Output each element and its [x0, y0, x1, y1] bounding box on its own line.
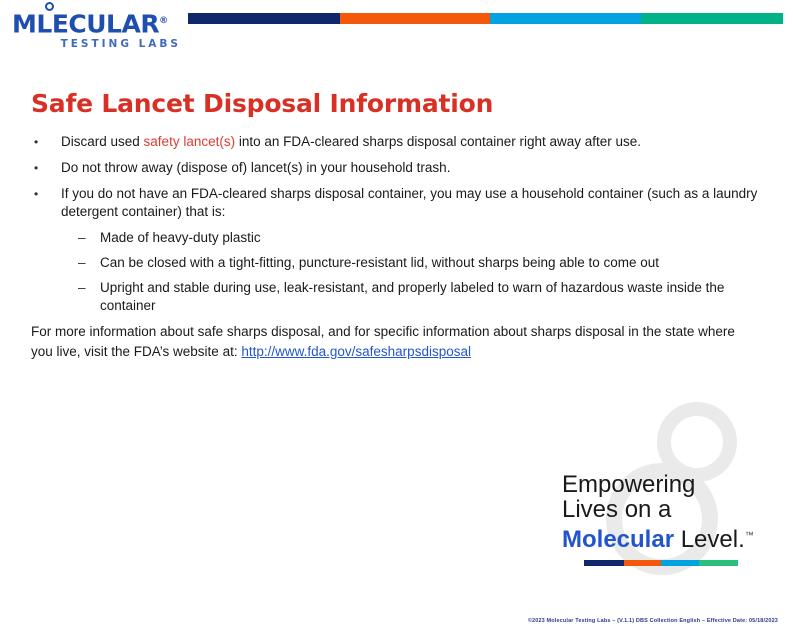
- tagline-line-2: Lives on a: [562, 497, 754, 522]
- tagline-line-3: Molecular Level.™: [562, 523, 754, 552]
- logo-subtitle: TESTING LABS: [12, 38, 184, 50]
- tagline-bar-segment-navy: [584, 560, 624, 566]
- bullet-marker-icon: •: [31, 133, 61, 151]
- bullet-item: •Do not throw away (dispose of) lancet(s…: [31, 159, 761, 177]
- sub-bullet-list: –Made of heavy-duty plastic–Can be close…: [78, 229, 761, 315]
- bullet-marker-icon: •: [31, 185, 61, 203]
- header-color-bar: [188, 13, 783, 24]
- sub-bullet-item: –Made of heavy-duty plastic: [78, 229, 761, 247]
- tagline-bar-segment-orange: [624, 560, 661, 566]
- fda-sharps-disposal-link[interactable]: http://www.fda.gov/safesharpsdisposal: [241, 344, 471, 359]
- logo-o-circle-icon: [45, 2, 54, 11]
- company-logo: MLECULAR® TESTING LABS: [12, 8, 184, 48]
- bullet-text-segment: Do not throw away (dispose of) lancet(s)…: [61, 160, 450, 175]
- bullet-text-segment: into an FDA-cleared sharps disposal cont…: [235, 134, 641, 149]
- closing-paragraph: For more information about safe sharps d…: [31, 322, 756, 362]
- tagline-line-1: Empowering: [562, 472, 754, 497]
- header-bar-segment-green: [641, 13, 783, 24]
- bullet-item: •Discard used safety lancet(s) into an F…: [31, 133, 761, 151]
- sub-bullet-marker-icon: –: [78, 229, 100, 247]
- bullet-text-segment: If you do not have an FDA-cleared sharps…: [61, 186, 757, 219]
- sub-bullet-marker-icon: –: [78, 254, 100, 272]
- bullet-item: •If you do not have an FDA-cleared sharp…: [31, 185, 761, 221]
- logo-wordmark: MLECULAR®: [12, 8, 184, 37]
- page-header: MLECULAR® TESTING LABS: [0, 0, 793, 56]
- bullet-text-segment: Discard used: [61, 134, 144, 149]
- sub-bullet-text: Made of heavy-duty plastic: [100, 229, 761, 247]
- footer-copyright: ©2023 Molecular Testing Labs – (V.1.1) D…: [0, 618, 786, 624]
- sub-bullet-item: –Upright and stable during use, leak-res…: [78, 279, 761, 315]
- tagline-text: Empowering Lives on a Molecular Level.™: [562, 472, 754, 552]
- trademark-icon: ™: [745, 530, 754, 540]
- bullet-marker-icon: •: [31, 159, 61, 177]
- bullet-list: •Discard used safety lancet(s) into an F…: [31, 133, 761, 322]
- page-title: Safe Lancet Disposal Information: [31, 89, 493, 118]
- sub-bullet-text: Can be closed with a tight-fitting, punc…: [100, 254, 761, 272]
- registered-trademark-icon: ®: [159, 16, 168, 26]
- bullet-text: Do not throw away (dispose of) lancet(s)…: [61, 159, 761, 177]
- logo-letters-rest: LECULAR: [36, 9, 159, 38]
- sub-bullet-item: –Can be closed with a tight-fitting, pun…: [78, 254, 761, 272]
- tagline-molecular-word: Molecular: [562, 526, 674, 553]
- tagline-bar-segment-green: [699, 560, 738, 566]
- tagline-block: Empowering Lives on a Molecular Level.™: [552, 400, 777, 585]
- header-bar-segment-light-blue: [490, 13, 642, 24]
- header-bar-segment-orange: [340, 13, 490, 24]
- tagline-color-bar: [584, 560, 738, 566]
- header-bar-segment-navy: [188, 13, 340, 24]
- bullet-text: Discard used safety lancet(s) into an FD…: [61, 133, 761, 151]
- tagline-bar-segment-light-blue: [661, 560, 700, 566]
- bullet-text-highlight: safety lancet(s): [144, 134, 236, 149]
- sub-bullet-text: Upright and stable during use, leak-resi…: [100, 279, 761, 315]
- bullet-text: If you do not have an FDA-cleared sharps…: [61, 185, 761, 221]
- logo-letter-m: M: [12, 9, 36, 38]
- tagline-level-word: Level.: [674, 526, 745, 553]
- sub-bullet-marker-icon: –: [78, 279, 100, 297]
